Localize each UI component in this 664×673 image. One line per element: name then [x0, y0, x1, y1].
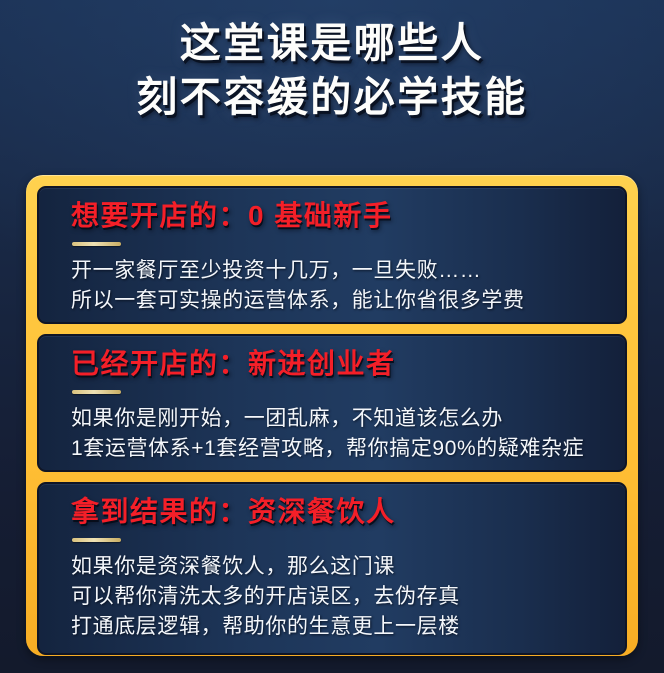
card-heading: 已经开店的：新进创业者	[71, 347, 625, 381]
heading-divider	[72, 538, 121, 542]
card-body: 如果你是资深餐饮人，那么这门课 可以帮你清洗太多的开店误区，去伪存真 打通底层逻…	[71, 552, 625, 642]
body-line: 开一家餐厅至少投资十几万，一旦失败……	[71, 256, 625, 286]
body-line: 如果你是资深餐饮人，那么这门课	[71, 552, 625, 582]
page-title: 这堂课是哪些人 刻不容缓的必学技能	[0, 16, 664, 124]
heading-divider	[72, 390, 121, 394]
body-line: 如果你是刚开始，一团乱麻，不知道该怎么办	[71, 404, 625, 434]
audience-card-beginner: 想要开店的：0 基础新手 开一家餐厅至少投资十几万，一旦失败…… 所以一套可实操…	[37, 186, 627, 324]
title-line-2: 刻不容缓的必学技能	[0, 70, 664, 124]
audience-cards-list: 想要开店的：0 基础新手 开一家餐厅至少投资十几万，一旦失败…… 所以一套可实操…	[37, 186, 627, 645]
audience-card-new-owner: 已经开店的：新进创业者 如果你是刚开始，一团乱麻，不知道该怎么办 1套运营体系+…	[37, 334, 627, 472]
body-line: 所以一套可实操的运营体系，能让你省很多学费	[71, 286, 625, 316]
promo-poster: 这堂课是哪些人 刻不容缓的必学技能 想要开店的：0 基础新手 开一家餐厅至少投资…	[0, 0, 664, 673]
body-line: 可以帮你清洗太多的开店误区，去伪存真	[71, 582, 625, 612]
body-line: 1套运营体系+1套经营攻略，帮你搞定90%的疑难杂症	[71, 434, 625, 464]
audience-card-veteran: 拿到结果的：资深餐饮人 如果你是资深餐饮人，那么这门课 可以帮你清洗太多的开店误…	[37, 482, 627, 655]
audience-cards-frame: 想要开店的：0 基础新手 开一家餐厅至少投资十几万，一旦失败…… 所以一套可实操…	[26, 175, 638, 656]
card-body: 如果你是刚开始，一团乱麻，不知道该怎么办 1套运营体系+1套经营攻略，帮你搞定9…	[71, 404, 625, 464]
card-body: 开一家餐厅至少投资十几万，一旦失败…… 所以一套可实操的运营体系，能让你省很多学…	[71, 256, 625, 316]
heading-divider	[72, 242, 121, 246]
card-heading: 拿到结果的：资深餐饮人	[71, 495, 625, 529]
card-heading: 想要开店的：0 基础新手	[71, 199, 625, 233]
title-line-1: 这堂课是哪些人	[0, 16, 664, 70]
body-line: 打通底层逻辑，帮助你的生意更上一层楼	[71, 612, 625, 642]
